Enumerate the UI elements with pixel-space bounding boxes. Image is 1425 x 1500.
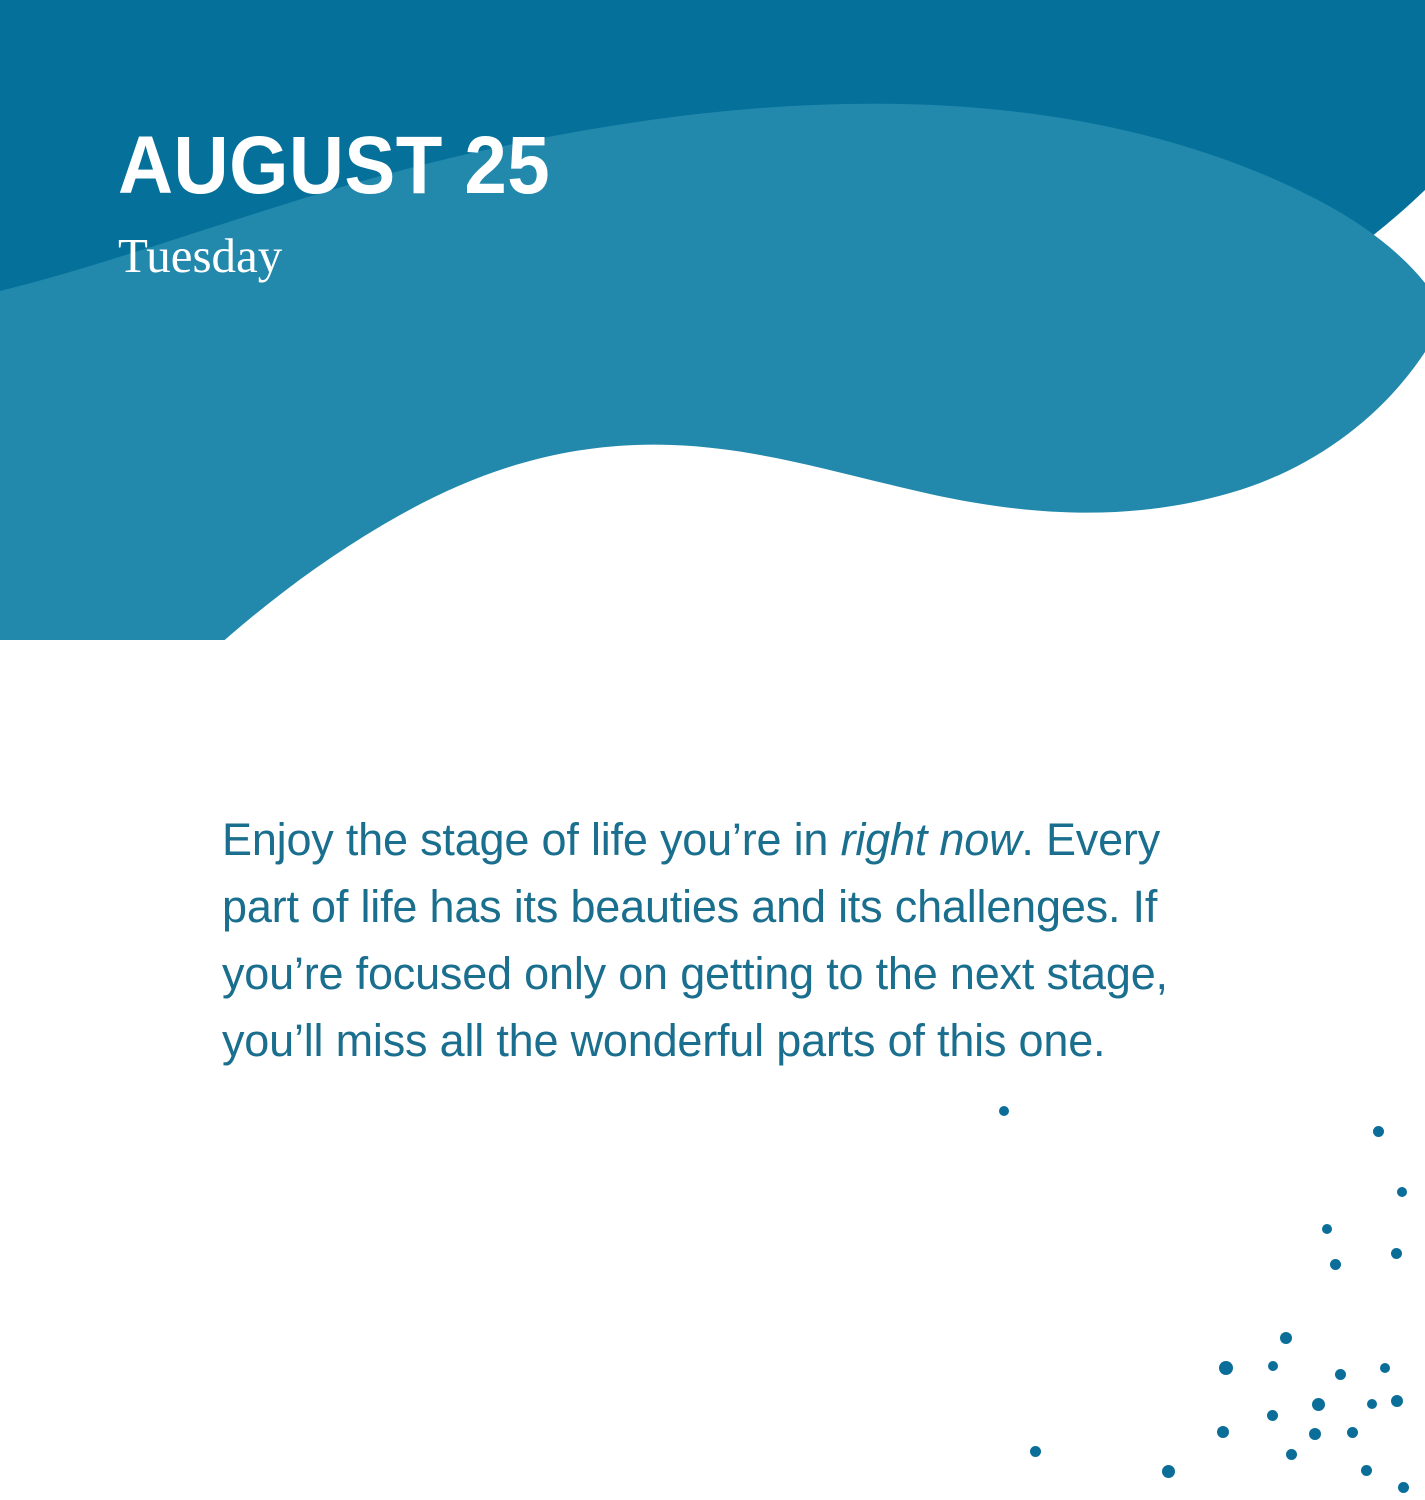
quote-emphasis-1: right now — [841, 814, 1022, 865]
decorative-dot — [1312, 1398, 1325, 1411]
decorative-dot — [1397, 1187, 1407, 1197]
decorative-dot — [1361, 1465, 1372, 1476]
header-text-block: AUGUST 25 Tuesday — [118, 122, 583, 282]
decorative-dot — [1280, 1332, 1292, 1344]
decorative-dot — [1330, 1259, 1341, 1270]
decorative-dot — [1267, 1410, 1278, 1421]
decorative-dot — [1217, 1426, 1229, 1438]
decorative-dot — [1380, 1363, 1390, 1373]
decorative-dot — [1391, 1395, 1403, 1407]
header-wave-decoration — [0, 0, 1425, 640]
decorative-dot — [1373, 1126, 1384, 1137]
quote-segment-0: Enjoy the stage of life you’re in — [222, 814, 841, 865]
decorative-dot — [1347, 1427, 1358, 1438]
decorative-dot — [1398, 1482, 1409, 1493]
decorative-dot — [1335, 1369, 1346, 1380]
page-subtitle-weekday: Tuesday — [118, 230, 583, 282]
quote-text: Enjoy the stage of life you’re in right … — [222, 806, 1172, 1074]
page-title-date: AUGUST 25 — [118, 122, 550, 210]
decorative-dot — [1030, 1446, 1041, 1457]
quote-block: Enjoy the stage of life you’re in right … — [222, 806, 1172, 1074]
decorative-dot — [1391, 1248, 1402, 1259]
decorative-dot — [1367, 1399, 1377, 1409]
decorative-dot — [1268, 1361, 1278, 1371]
decorative-dot — [999, 1106, 1009, 1116]
decorative-dot — [1286, 1449, 1297, 1460]
decorative-dot — [1162, 1465, 1175, 1478]
decorative-dot — [1219, 1361, 1233, 1375]
decorative-dot — [1322, 1224, 1332, 1234]
decorative-dot — [1309, 1428, 1321, 1440]
daily-quote-card: AUGUST 25 Tuesday Enjoy the stage of lif… — [0, 0, 1425, 1500]
